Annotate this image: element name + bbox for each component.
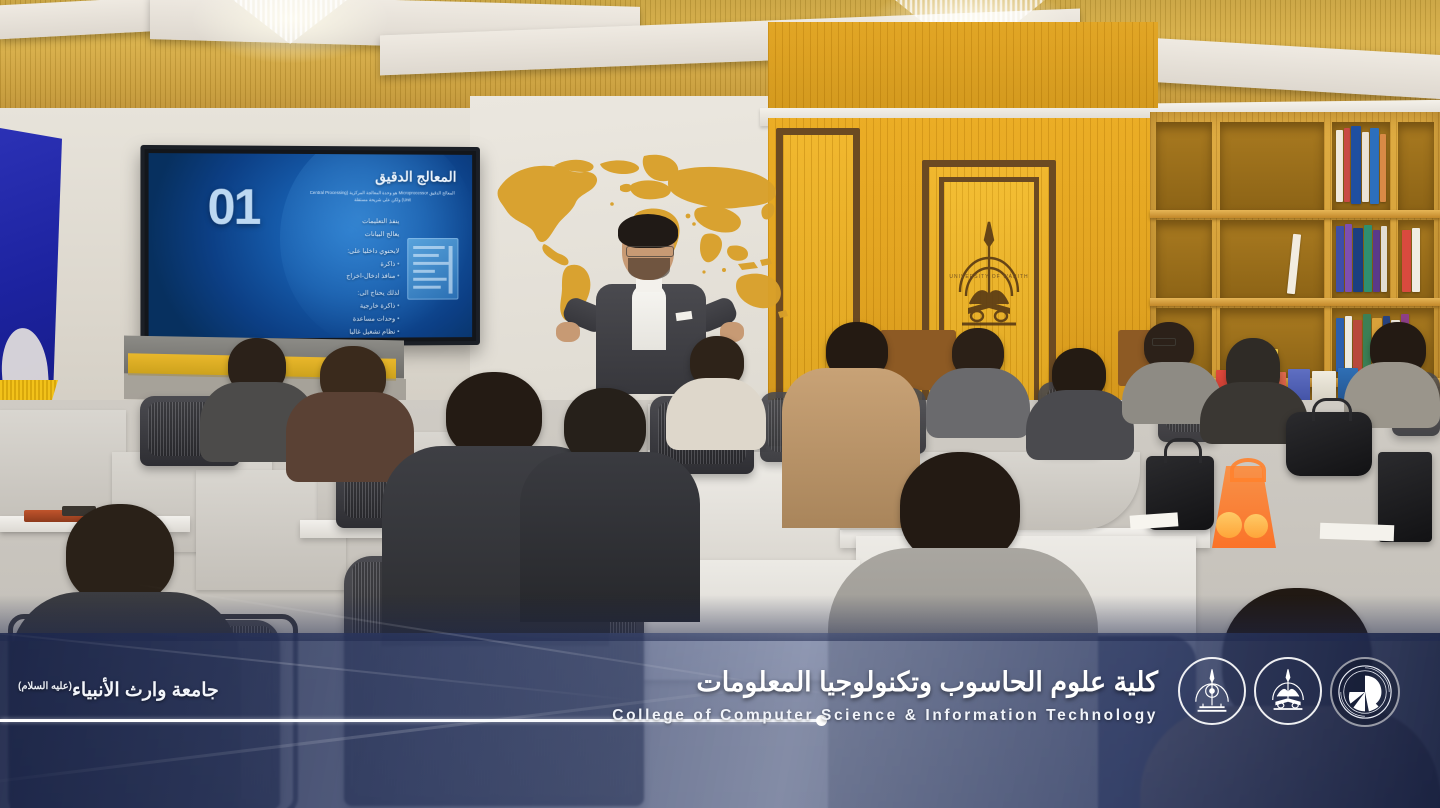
photo-canvas: UNIVERSITY OF WARITH [0,0,1440,808]
university-flag [0,128,62,398]
presentation-screen[interactable]: 01 المعالج الدقيق المعالج الدقيق Micropr… [140,145,480,347]
book [1287,234,1301,295]
university-name-text: جامعة وارث الأنبياء [72,680,219,701]
chandelier-left [215,0,365,44]
book [1381,226,1387,292]
book [1336,226,1344,292]
book [1353,320,1362,372]
wood-wall-upper [768,22,1158,108]
backpack-black [1286,412,1372,476]
student-body [666,378,766,450]
footer-banner: جامعة وارث الأنبياء(عليه السلام) كلية عل… [0,633,1440,808]
bullet-line: وحدات مساعدة [268,314,399,327]
shelf-cubby [1220,220,1324,298]
bullet-line: لايحتوي داخليا على: [268,246,399,259]
handbag-handle [1164,438,1202,463]
student-glasses [1152,338,1176,346]
book [1345,224,1352,292]
slide-content: 01 المعالج الدقيق المعالج الدقيق Micropr… [149,153,473,339]
college-name-english: College of Computer Science & Informatio… [612,707,1158,725]
book [1373,230,1380,292]
student-head [66,504,174,604]
university-name: جامعة وارث الأنبياء(عليه السلام) [18,679,219,702]
secondary-seal-icon [1261,664,1315,718]
banner-top-fade [0,595,1440,641]
bullet-line: نظام تشغيل غالبا [268,326,399,339]
book [1412,228,1420,292]
bullet-line: منافذ ادخال-اخراج [268,271,399,284]
slide-subtitle: المعالج الدقيق Microprocessor هو وحدة ال… [308,190,456,204]
presenter-turtleneck [632,284,666,350]
svg-text:UNIVERSITY OF WARITH: UNIVERSITY OF WARITH [949,274,1028,280]
bullet-line: ذاكرة خارجية [268,301,399,314]
student-body [926,368,1030,438]
book [1402,230,1411,292]
book [1344,128,1350,202]
bullet-line: ذاكرة [268,258,399,271]
presenter-hair [618,214,678,248]
microprocessor-chip-image [407,238,458,300]
book [1336,318,1344,372]
book [1336,130,1343,202]
emblem-warith-al-anbiyaa-secondary [1254,657,1322,725]
paper-sheet [1320,523,1395,542]
bullet-line: ينفذ التعليمات [268,216,399,229]
book [1362,132,1369,202]
student-body [1026,390,1134,460]
door-crest-icon: UNIVERSITY OF WARITH [946,216,1032,336]
emblem-ministry-higher-education [1330,657,1400,727]
bullet-line: يعالج البيانات [268,229,399,242]
presenter-hand-left [556,322,580,342]
juice-bottle [1244,514,1268,538]
shelf-cubby [1156,122,1212,210]
presenter-glasses [626,246,674,257]
bullet-line: لذلك يحتاج الى: [268,288,399,301]
shelf-cubby [1156,220,1212,298]
book [1345,316,1352,372]
juice-bottle [1216,512,1242,538]
pbuh-text: (عليه السلام) [18,681,72,692]
book [1351,126,1361,204]
book [1380,134,1386,202]
book [1364,225,1372,292]
slide-number: 01 [207,178,259,236]
shelf-board [1150,298,1440,306]
backpack-handle [1312,398,1352,421]
shelf-cubby [1398,122,1434,210]
ministry-seal-icon [1336,663,1394,721]
bullet-group: لايحتوي داخليا على: ذاكرة منافذ ادخال-اخ… [268,246,399,285]
presenter-beard [628,258,670,280]
shelf-cubby [1332,220,1390,298]
orange-bag-knot [1230,458,1266,482]
bullet-group: ينفذ التعليمات يعالج البيانات [268,216,399,242]
book [1370,128,1379,204]
shelf-board [1150,210,1440,218]
shelf-cubby [1398,220,1434,298]
slide-title: المعالج الدقيق [375,168,456,185]
college-name-arabic: كلية علوم الحاسوب وتكنولوجيا المعلومات [696,667,1158,698]
shelf-cubby [1220,122,1324,210]
slide-bullet-list: ينفذ التعليمات يعالج البيانات لايحتوي دا… [268,216,399,339]
emblem-warith-al-anbiyaa-university [1178,657,1246,725]
shelf-cubby [1332,122,1390,210]
bullet-group: لذلك يحتاج الى: ذاكرة خارجية وحدات مساعد… [268,288,399,339]
book [1353,228,1363,292]
university-seal-icon [1185,664,1239,718]
